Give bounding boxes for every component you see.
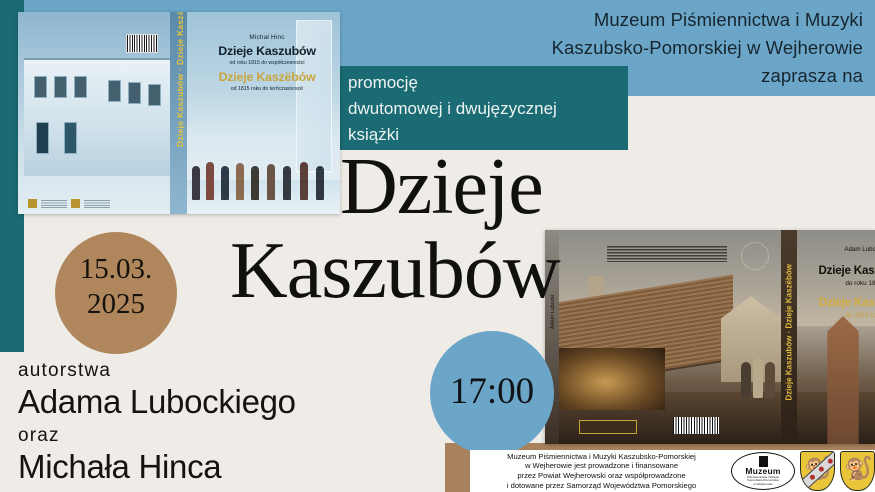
- book2-figure: [765, 362, 775, 398]
- book1-figure: [206, 162, 214, 200]
- poster-title-line-2: Kaszubów: [230, 232, 760, 310]
- footer-line-2: w Wejherowie jest prowadzone i finansowa…: [474, 461, 729, 471]
- book1-logo-text: [84, 200, 110, 208]
- book2-front-text: Adam Lubocki Dzieje Kaszubów do roku 181…: [801, 246, 875, 319]
- book1-figure: [192, 166, 200, 200]
- book2-spine: Dzieje Kaszubów · Dzieje Kaszëbów: [781, 230, 797, 444]
- poster-title: Dzieje Kaszubów: [340, 148, 760, 310]
- book1-window: [34, 76, 47, 98]
- bend-roundel: [818, 465, 825, 472]
- book1-figure: [236, 163, 244, 200]
- book1-window: [54, 76, 67, 98]
- event-time-badge: 17:00: [430, 331, 554, 455]
- event-time-text: 17:00: [430, 371, 554, 413]
- book2-interior-scene: [557, 348, 665, 410]
- promo-line-1: promocję: [348, 70, 638, 96]
- book2-title-pl: Dzieje Kaszubów: [801, 264, 875, 277]
- authors-intro-2: oraz: [18, 423, 358, 448]
- bend-roundel: [827, 457, 834, 464]
- book1-front-text: Michał Hinc Dzieje Kaszubów od roku 1815…: [193, 34, 340, 92]
- organizer-line-2: Kaszubsko-Pomorskiej w Wejherowie: [383, 34, 863, 62]
- promo-text: promocję dwutomowej i dwujęzycznej książ…: [348, 70, 638, 148]
- book1-sponsor-logos: [28, 199, 110, 208]
- book1-subtitle-pl: od roku 1815 do współczesności: [193, 60, 340, 66]
- authors-intro-1: autorstwa: [18, 358, 358, 383]
- book1-window: [128, 82, 141, 104]
- museum-logo-glyph: [759, 456, 768, 467]
- museum-logo-icon: Muzeum Piśmiennictwa i Muzyki Kaszubsko-…: [731, 452, 795, 490]
- footer-logo-row: Muzeum Piśmiennictwa i Muzyki Kaszubsko-…: [729, 451, 875, 491]
- book1-figure: [316, 166, 324, 200]
- book1-author: Michał Hinc: [193, 34, 340, 41]
- book1-barcode: [126, 34, 158, 53]
- footer-line-4: i dotowane przez Samorząd Województwa Po…: [474, 481, 729, 491]
- griffin-glyph: 🐒: [844, 457, 873, 480]
- book1-title-pl: Dzieje Kaszubów: [193, 44, 340, 58]
- event-poster: Dzieje Kaszubów · Dzieje Kaszëbów Michał…: [0, 0, 875, 492]
- book1-building: [24, 58, 174, 176]
- organizer-line-1: Muzeum Piśmiennictwa i Muzyki: [383, 6, 863, 34]
- author-name-1: Adama Lubockiego: [18, 383, 358, 421]
- book1-shop-window: [36, 122, 49, 154]
- book1-window: [108, 80, 121, 102]
- event-date-text: 15.03. 2025: [55, 252, 177, 322]
- book1-window: [148, 84, 161, 106]
- book1-shop-window: [64, 122, 77, 154]
- book2-spine-text: Dzieje Kaszubów · Dzieje Kaszëbów: [785, 265, 794, 401]
- book1-spine-text: Dzieje Kaszubów · Dzieje Kaszëbów: [175, 55, 185, 147]
- book1-figure: [283, 166, 291, 200]
- event-date-badge: 15.03. 2025: [55, 232, 177, 354]
- book1-logo-mark: [71, 199, 80, 208]
- footer-funding-text: Muzeum Piśmiennictwa i Muzyki Kaszubsko-…: [470, 452, 729, 490]
- poster-title-line-1: Dzieje: [340, 143, 543, 231]
- book2-figure: [753, 358, 763, 398]
- book1-crowd-figures: [188, 150, 340, 208]
- book1-title-csb: Dzieje Kaszëbów: [193, 70, 340, 84]
- book1-back-cover: [18, 12, 186, 214]
- book1-spine: Dzieje Kaszubów · Dzieje Kaszëbów: [170, 12, 187, 214]
- book2-title-csb: Dzieje Kaszëbów: [801, 296, 875, 309]
- book1-figure: [300, 162, 308, 200]
- book2-subtitle-csb: do 1815 roku: [801, 312, 875, 319]
- authors-block: autorstwa Adama Lubockiego oraz Michała …: [18, 358, 358, 488]
- book1-window: [74, 76, 87, 98]
- book2-author: Adam Lubocki: [801, 246, 875, 254]
- pomeranian-voivodeship-coat-of-arms-icon: 🐒: [840, 451, 875, 491]
- wejherowo-county-coat-of-arms-icon: 🐒: [800, 451, 835, 491]
- book1-figure: [251, 166, 259, 200]
- book2-sponsor-logo: [579, 420, 637, 434]
- promo-line-2: dwutomowej i dwujęzycznej: [348, 96, 638, 122]
- book2-barcode: [673, 417, 719, 434]
- event-date-line-1: 15.03.: [55, 252, 177, 287]
- footer-bar: Muzeum Piśmiennictwa i Muzyki Kaszubsko-…: [470, 450, 875, 492]
- book-cover-volume-2-image: Dzieje Kaszubów · Dzieje Kaszëbów Michał…: [18, 12, 340, 214]
- book1-logo-text: [41, 200, 67, 208]
- book1-logo-mark: [28, 199, 37, 208]
- book2-figure: [741, 362, 751, 398]
- footer-line-1: Muzeum Piśmiennictwa i Muzyki Kaszubsko-…: [474, 452, 729, 462]
- book1-figure: [267, 164, 275, 200]
- museum-logo-sub-3: w Wejherowie: [753, 483, 772, 487]
- book1-figure: [221, 166, 229, 200]
- event-date-line-2: 2025: [55, 287, 177, 322]
- book1-subtitle-csb: od 1815 roku do terôczasnoscë: [193, 86, 340, 92]
- bend-roundel: [809, 474, 816, 481]
- footer-line-3: przez Powiat Wejherowski oraz współprowa…: [474, 471, 729, 481]
- book2-subtitle-pl: do roku 1815: [801, 280, 875, 287]
- author-name-2: Michała Hinca: [18, 448, 358, 486]
